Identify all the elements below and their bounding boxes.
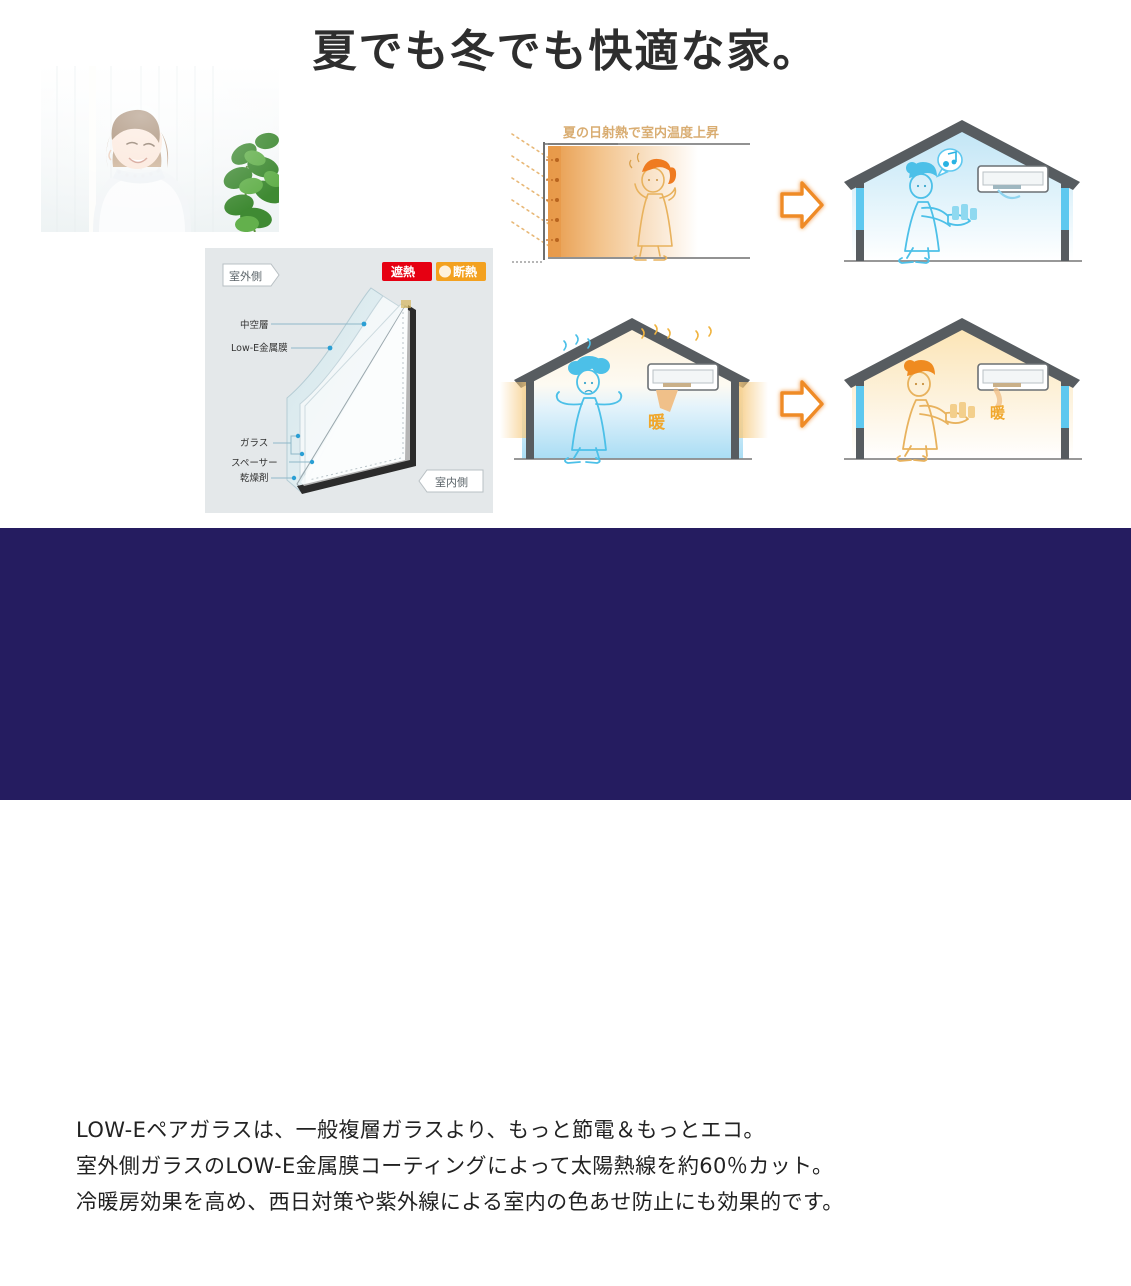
diagram-winter-before: 暖 — [500, 316, 770, 491]
tag-inside: 室内側 — [419, 470, 483, 492]
svg-text:遮熱: 遮熱 — [391, 264, 415, 279]
callout-lowe: Low-E金属膜 — [231, 342, 288, 354]
diagram-summer-before-image: 夏の日射熱で室内温度上昇 — [500, 118, 770, 293]
svg-text:断熱: 断熱 — [453, 264, 477, 279]
navy-band: LOW-Eペアガラスは、一般複層ガラスより、もっと節電＆もっとエコ。 室外側ガラ… — [0, 528, 1131, 800]
summer-ac-label-text: 暖 — [990, 404, 1006, 422]
svg-text:室内側: 室内側 — [435, 475, 468, 489]
badge-shanetsu: 遮熱 — [382, 262, 432, 281]
svg-text:室外側: 室外側 — [229, 270, 262, 283]
diagram-winter-after-image: 暖 — [830, 316, 1095, 491]
arrow-right-icon — [772, 174, 828, 236]
glass-cross-section-panel: 室外側 遮熱 断熱 中空層 Low-E金属膜 ガラス スペーサー 乾燥剤 — [205, 248, 493, 513]
description-line-1: LOW-Eペアガラスは、一般複層ガラスより、もっと節電＆もっとエコ。 — [76, 1112, 1077, 1148]
callout-desiccant: 乾燥剤 — [240, 472, 269, 484]
diagram-grid: 夏の日射熱で室内温度上昇 — [500, 118, 1110, 518]
summer-caption-text: 夏の日射熱で室内温度上昇 — [562, 125, 719, 141]
arrow-winter — [772, 373, 828, 435]
winter-heat-label-text: 暖 — [648, 412, 666, 433]
description-text: LOW-Eペアガラスは、一般複層ガラスより、もっと節電＆もっとエコ。 室外側ガラ… — [76, 1112, 1077, 1220]
description-card: LOW-Eペアガラスは、一般複層ガラスより、もっと節電＆もっとエコ。 室外側ガラ… — [30, 1088, 1103, 1286]
diagram-winter-after: 暖 — [830, 316, 1095, 491]
arrow-summer — [772, 174, 828, 236]
callout-glass: ガラス — [240, 438, 268, 449]
callout-spacer: スペーサー — [231, 458, 278, 469]
badge-dannetsu: 断熱 — [436, 262, 486, 281]
tag-outside: 室外側 — [223, 264, 279, 286]
diagram-summer-before: 夏の日射熱で室内温度上昇 — [500, 118, 770, 293]
lifestyle-photo-image — [41, 66, 279, 232]
lifestyle-photo — [41, 66, 279, 232]
diagram-summer-after — [830, 118, 1095, 293]
page-root: 夏でも冬でも快適な家。 — [0, 0, 1131, 800]
description-line-2: 室外側ガラスのLOW-E金属膜コーティングによって太陽熱線を約60％カット。 — [76, 1148, 1077, 1184]
description-line-3: 冷暖房効果を高め、西日対策や紫外線による室内の色あせ防止にも効果的です。 — [76, 1184, 1077, 1220]
glass-cross-section-image: 室外側 遮熱 断熱 中空層 Low-E金属膜 ガラス スペーサー 乾燥剤 — [205, 248, 493, 513]
callout-chukuso: 中空層 — [240, 319, 269, 331]
arrow-right-icon — [772, 373, 828, 435]
diagram-winter-before-image: 暖 — [500, 316, 770, 491]
diagram-summer-after-image — [830, 118, 1095, 293]
